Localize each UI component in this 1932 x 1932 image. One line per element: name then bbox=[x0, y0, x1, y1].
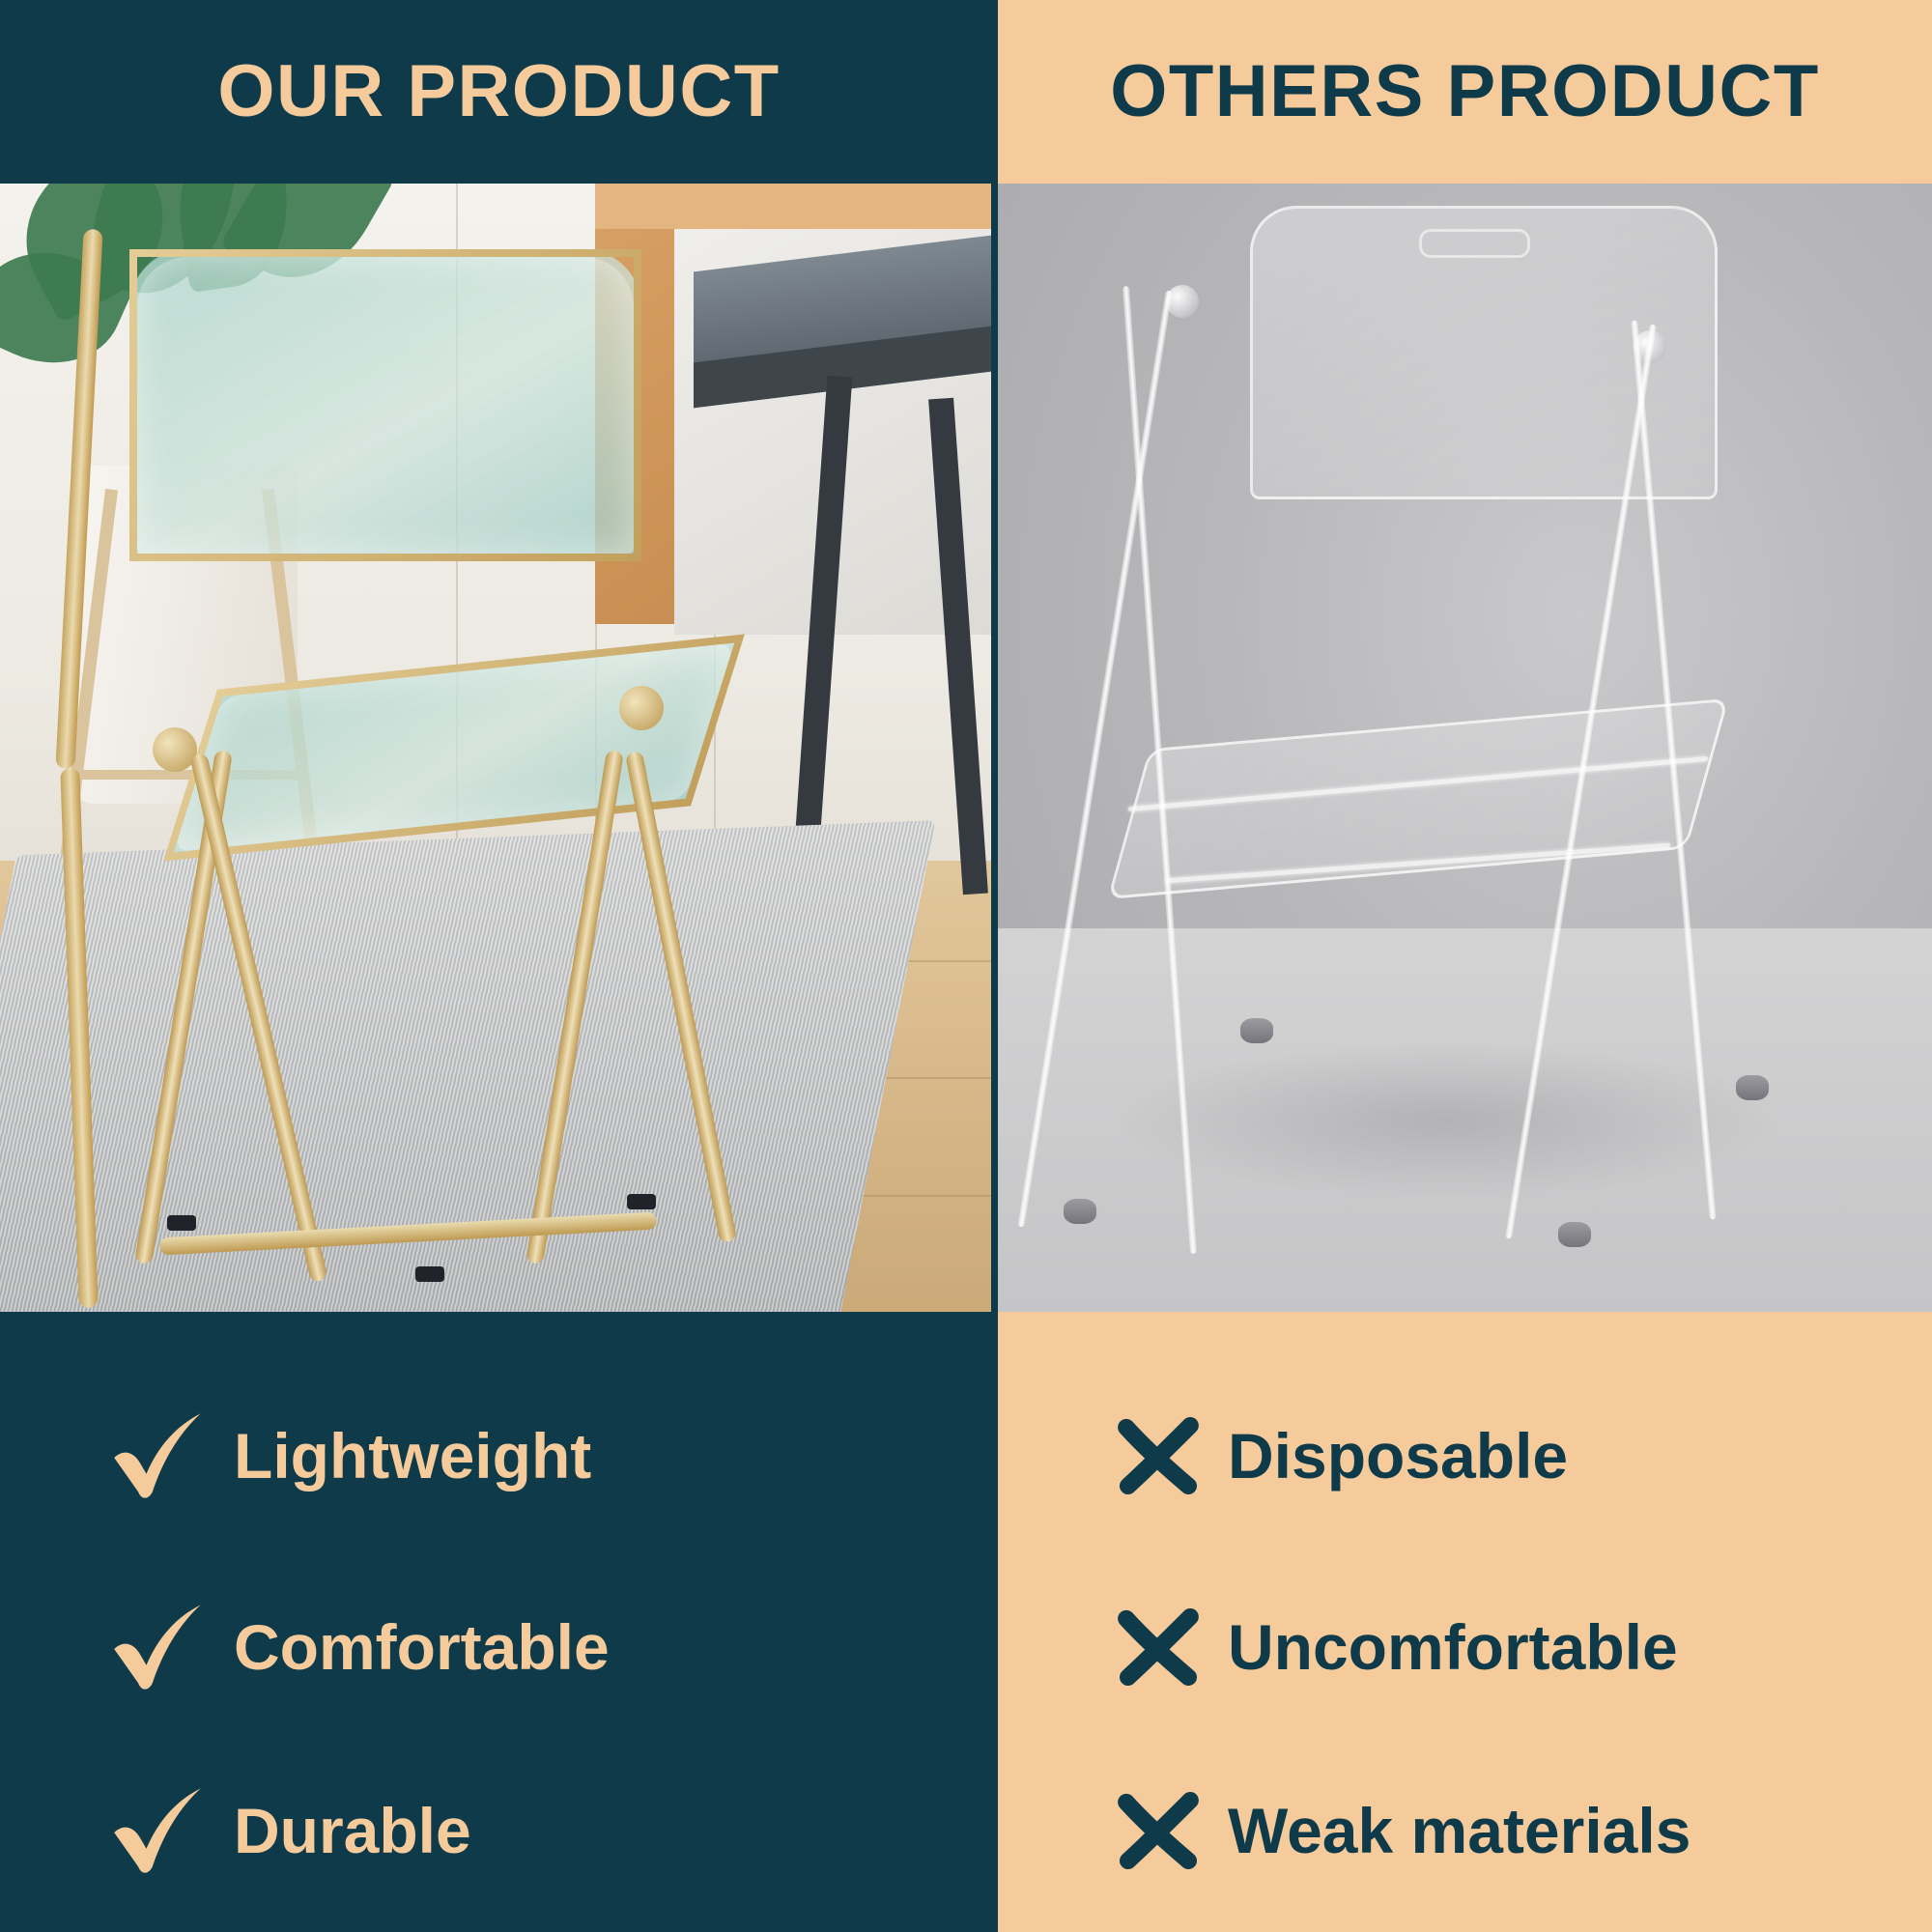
others-product-header: OTHERS PRODUCT bbox=[998, 0, 1932, 184]
list-item-label: Weak materials bbox=[1228, 1799, 1690, 1862]
clear-folding-chair bbox=[998, 184, 1932, 1312]
chair-foot-rail bbox=[159, 1212, 657, 1256]
list-item: Lightweight bbox=[108, 1403, 591, 1509]
chair-foot-cap bbox=[415, 1266, 444, 1282]
others-product-drawbacks-list: Disposable Uncomfortable Weak materials bbox=[998, 1312, 1932, 1932]
gold-mint-folding-chair bbox=[70, 229, 823, 1267]
cabinet-top bbox=[595, 184, 991, 229]
clear-chair-back-cutout bbox=[1419, 229, 1530, 258]
check-icon bbox=[108, 1780, 209, 1881]
list-item-label: Comfortable bbox=[234, 1615, 610, 1679]
cross-icon bbox=[1114, 1786, 1203, 1875]
header-row: OUR PRODUCT OTHERS PRODUCT bbox=[0, 0, 1932, 184]
clear-chair-foot bbox=[1558, 1222, 1591, 1247]
chair-leg bbox=[526, 750, 625, 1264]
others-product-photo bbox=[998, 184, 1932, 1312]
check-icon bbox=[108, 1597, 209, 1697]
list-item: Uncomfortable bbox=[1114, 1594, 1678, 1700]
comparison-infographic: OUR PRODUCT OTHERS PRODUCT bbox=[0, 0, 1932, 1932]
check-icon bbox=[108, 1406, 209, 1506]
our-product-photo bbox=[0, 184, 991, 1312]
cross-icon bbox=[1114, 1603, 1203, 1691]
chair-leg bbox=[625, 751, 737, 1243]
list-item: Weak materials bbox=[1114, 1777, 1690, 1884]
chair-foot-cap bbox=[627, 1194, 656, 1209]
others-product-title: OTHERS PRODUCT bbox=[1110, 55, 1820, 128]
chair-hinge bbox=[153, 727, 197, 772]
our-product-title: OUR PRODUCT bbox=[217, 55, 780, 128]
list-item-label: Uncomfortable bbox=[1228, 1615, 1678, 1679]
list-item-label: Disposable bbox=[1228, 1424, 1568, 1488]
studio-scene bbox=[998, 184, 1932, 1312]
clear-chair-seat bbox=[1108, 697, 1729, 898]
cross-icon bbox=[1114, 1411, 1203, 1500]
chair-foot-cap bbox=[167, 1215, 196, 1231]
list-item-label: Lightweight bbox=[234, 1424, 591, 1488]
our-product-header: OUR PRODUCT bbox=[0, 0, 998, 184]
chair-backrest bbox=[129, 249, 641, 560]
interior-scene bbox=[0, 184, 991, 1312]
list-item: Disposable bbox=[1114, 1403, 1568, 1509]
our-product-benefits-list: Lightweight Comfortable Durable bbox=[0, 1312, 998, 1932]
list-item-label: Durable bbox=[234, 1799, 471, 1862]
clear-chair-foot bbox=[1064, 1199, 1096, 1224]
clear-chair-hinge bbox=[1166, 285, 1199, 318]
list-item: Durable bbox=[108, 1777, 471, 1884]
clear-chair-foot bbox=[1240, 1018, 1273, 1043]
chair-hinge bbox=[619, 686, 664, 730]
clear-chair-foot bbox=[1736, 1075, 1769, 1100]
list-item: Comfortable bbox=[108, 1594, 610, 1700]
